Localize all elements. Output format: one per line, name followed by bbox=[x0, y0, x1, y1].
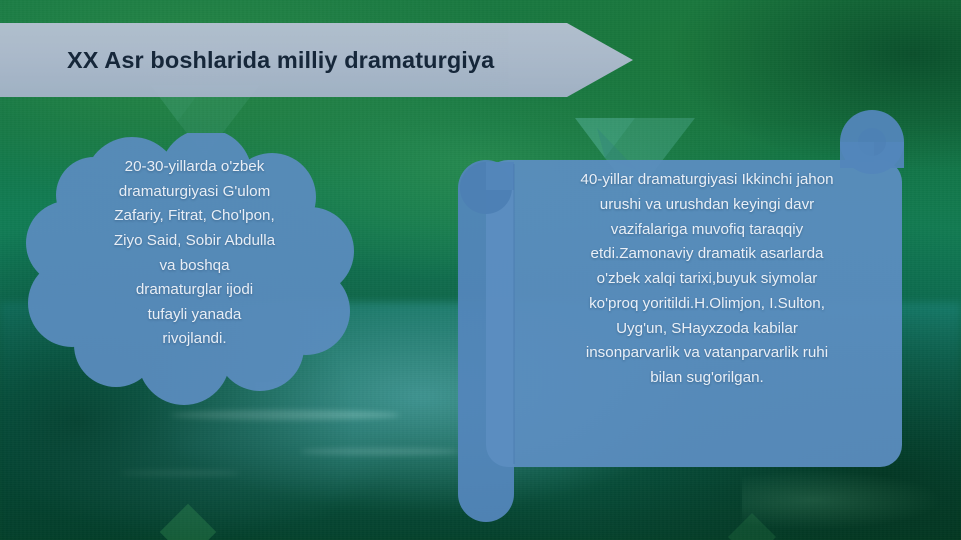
title-banner: XX Asr boshlarida milliy dramaturgiya bbox=[0, 23, 633, 97]
cloud-line: rivojlandi. bbox=[62, 327, 327, 352]
scroll-line: 40-yillar dramaturgiyasi Ikkinchi jahon bbox=[518, 168, 896, 193]
cloud-line: Ziyo Said, Sobir Abdulla bbox=[62, 229, 327, 254]
scroll-line: bilan sug'orilgan. bbox=[518, 366, 896, 391]
cloud-line: 20-30-yillarda o'zbek bbox=[62, 155, 327, 180]
scroll-line: Uyg'un, SHayxzoda kabilar bbox=[518, 317, 896, 342]
scroll-line: urushi va urushdan keyingi davr bbox=[518, 193, 896, 218]
cloud-line: Zafariy, Fitrat, Cho'lpon, bbox=[62, 204, 327, 229]
cloud-callout[interactable]: 20-30-yillarda o'zbek dramaturgiyasi G'u… bbox=[24, 133, 364, 405]
scroll-line: vazifalariga muvofiq taraqqiy bbox=[518, 218, 896, 243]
scroll-callout-text: 40-yillar dramaturgiyasi Ikkinchi jahon … bbox=[518, 168, 896, 391]
cloud-line: dramaturglar ijodi bbox=[62, 278, 327, 303]
scroll-line: ko'proq yoritildi.H.Olimjon, I.Sulton, bbox=[518, 292, 896, 317]
slide-canvas: XX Asr boshlarida milliy dramaturgiya bbox=[0, 0, 961, 540]
cloud-line: va boshqa bbox=[62, 254, 327, 279]
scroll-line: insonparvarlik va vatanparvarlik ruhi bbox=[518, 341, 896, 366]
page-title: XX Asr boshlarida milliy dramaturgiya bbox=[67, 47, 494, 74]
cloud-line: dramaturgiyasi G'ulom bbox=[62, 180, 327, 205]
scroll-line: etdi.Zamonaviy dramatik asarlarda bbox=[518, 242, 896, 267]
cloud-line: tufayli yanada bbox=[62, 303, 327, 328]
cloud-callout-text: 20-30-yillarda o'zbek dramaturgiyasi G'u… bbox=[62, 155, 327, 352]
scroll-line: o'zbek xalqi tarixi,buyuk siymolar bbox=[518, 267, 896, 292]
scroll-callout[interactable]: 40-yillar dramaturgiyasi Ikkinchi jahon … bbox=[450, 108, 912, 526]
